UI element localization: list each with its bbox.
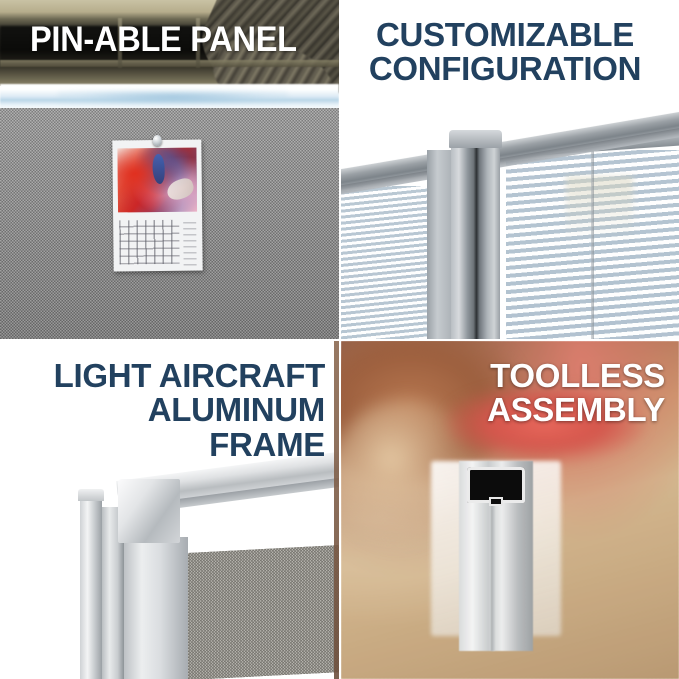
feature-collage: PIN-ABLE PANEL CUSTOMIZABLE CONFIGURATIO… bbox=[0, 0, 679, 679]
caption-toolless-assembly: TOOLLESS ASSEMBLY bbox=[355, 359, 665, 428]
artwork-light-shape bbox=[164, 176, 196, 203]
calendar-artwork bbox=[117, 148, 197, 213]
glazed-pane-left bbox=[341, 186, 431, 339]
caption-light-aircraft-aluminum-frame: LIGHT AIRCRAFT ALUMINUM FRAME bbox=[14, 359, 325, 462]
calendar-month-label bbox=[183, 218, 197, 266]
pane-mullion bbox=[591, 150, 594, 339]
light-glow bbox=[58, 90, 288, 104]
ceiling-beam bbox=[0, 60, 339, 67]
panel-light-aircraft-aluminum-frame: LIGHT AIRCRAFT ALUMINUM FRAME bbox=[0, 341, 339, 679]
frame-stile-cap bbox=[78, 489, 104, 501]
frame-stile-outer bbox=[80, 497, 102, 679]
post-cap bbox=[449, 130, 502, 148]
frame-corner-block bbox=[118, 479, 180, 543]
wall-calendar bbox=[112, 140, 202, 272]
extrusion-notch bbox=[489, 497, 503, 506]
panel-customizable-configuration: CUSTOMIZABLE CONFIGURATION bbox=[341, 0, 679, 339]
caption-customizable-configuration: CUSTOMIZABLE CONFIGURATION bbox=[341, 18, 669, 87]
artwork-blue-shape bbox=[152, 154, 165, 184]
fabric-panel-insert bbox=[188, 545, 339, 679]
corner-post bbox=[451, 138, 500, 339]
panel-toolless-assembly: TOOLLESS ASSEMBLY bbox=[341, 341, 679, 679]
panel-pin-able-panel: PIN-ABLE PANEL bbox=[0, 0, 339, 339]
push-pin-icon bbox=[152, 135, 161, 146]
horizontal-divider bbox=[0, 339, 679, 341]
frame-stile-inner bbox=[122, 537, 188, 679]
caption-pin-able-panel: PIN-ABLE PANEL bbox=[30, 22, 297, 58]
extrusion-groove bbox=[491, 491, 495, 651]
calendar-date-grid bbox=[119, 220, 179, 265]
secondary-post bbox=[427, 150, 453, 339]
